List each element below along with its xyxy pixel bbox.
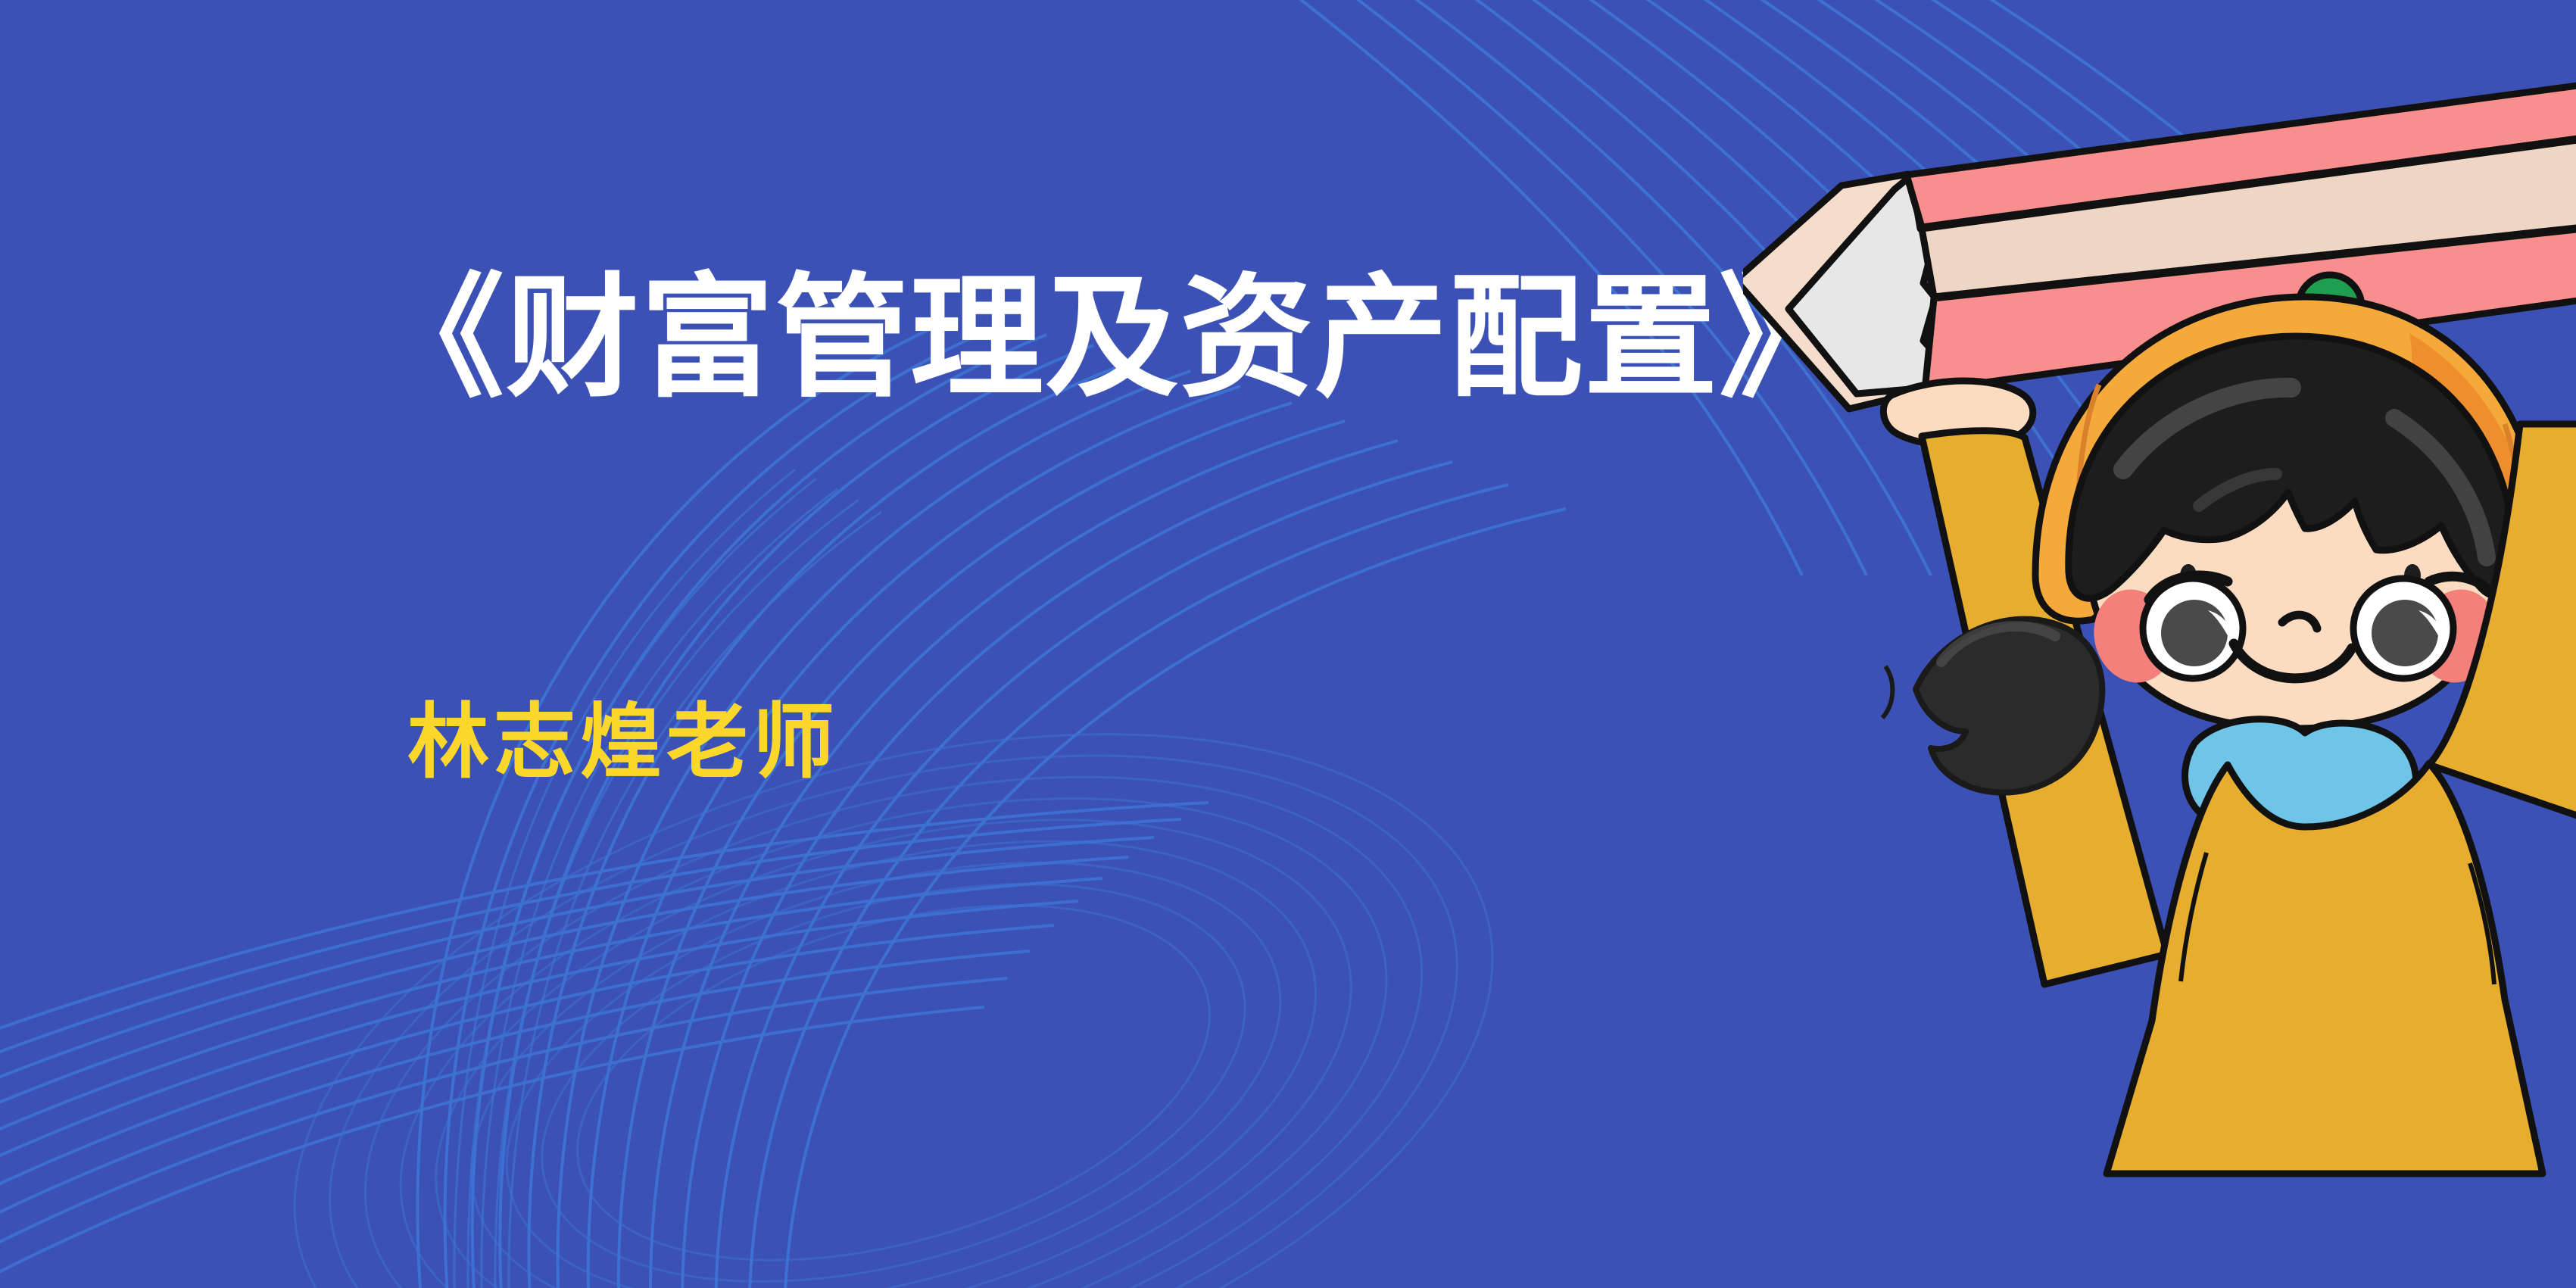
eyebrow-dot-right — [2404, 564, 2421, 587]
pencil-barrel-bottom-stripe — [1925, 229, 2576, 391]
eye-right — [2353, 576, 2497, 678]
page-title: 《财富管理及资产配置》 — [371, 267, 1620, 410]
eye-left — [2143, 575, 2243, 678]
black-bob-hair — [2069, 336, 2515, 598]
left-arm-sleeve — [1922, 431, 2167, 984]
blush-left — [2085, 581, 2184, 691]
side-ponytail — [1882, 619, 2102, 793]
orange-hat — [2035, 275, 2547, 622]
right-arm-sleeve — [2429, 424, 2576, 818]
background-wave-pattern — [0, 0, 2576, 1288]
hat-pom-green-icon — [2298, 275, 2362, 338]
body — [2107, 424, 2576, 1174]
slide-text-block: 《财富管理及资产配置》 林志煌老师 — [371, 267, 1620, 410]
left-arm — [1883, 381, 2167, 984]
pencil-barrel-center-stripe — [1922, 139, 2576, 297]
pencil-barrel-top-stripe — [1907, 85, 2576, 227]
left-hand — [1883, 381, 2032, 446]
yellow-dress — [2107, 763, 2543, 1174]
face — [2069, 336, 2515, 728]
blush-right — [2409, 581, 2508, 691]
presentation-slide: 《财富管理及资产配置》 林志煌老师 — [0, 0, 2576, 1288]
nose — [2282, 615, 2317, 628]
eyebrow-dot-left — [2180, 564, 2197, 587]
blue-cloud-collar — [2185, 719, 2416, 855]
pencil-icon — [1743, 85, 2576, 409]
face-shape — [2085, 379, 2500, 728]
hat-shading — [2349, 333, 2538, 621]
presenter-name: 林志煌老师 — [407, 698, 839, 788]
mouth — [2234, 644, 2352, 678]
girl-holding-pencil-illustration — [1743, 0, 2576, 1288]
